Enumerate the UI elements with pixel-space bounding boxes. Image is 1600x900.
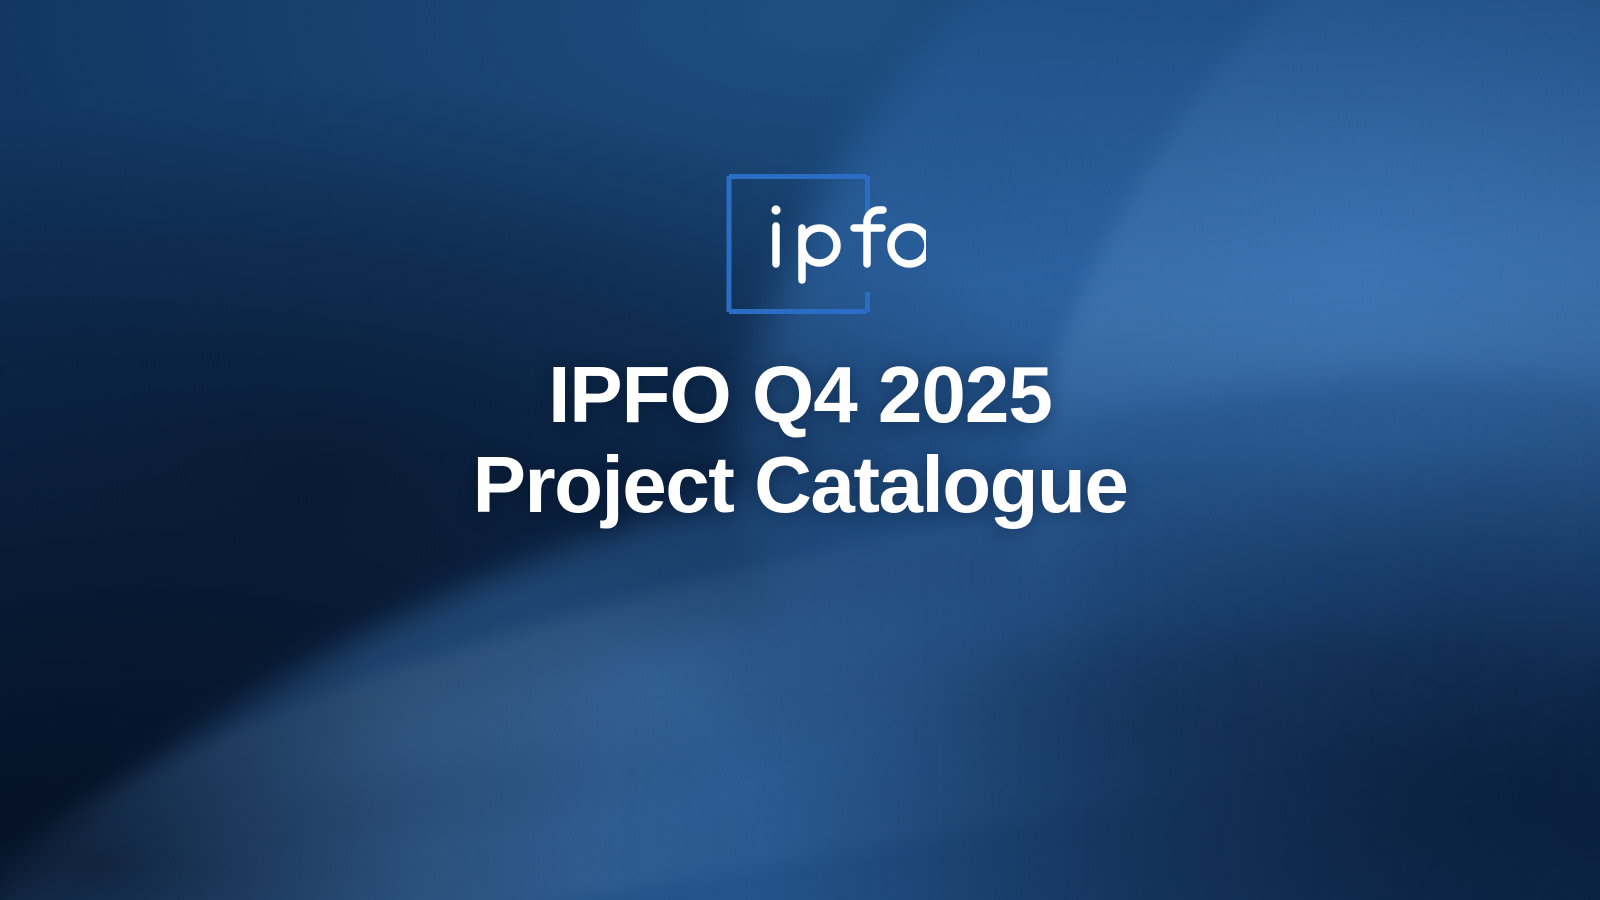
slide-title-line-2: Project Catalogue xyxy=(473,440,1128,530)
ipfo-logo xyxy=(726,170,874,316)
logo-wordmark-ipfo xyxy=(770,198,926,284)
slide-title-line-1: IPFO Q4 2025 xyxy=(473,350,1128,440)
title-slide: IPFO Q4 2025 Project Catalogue xyxy=(0,0,1600,900)
slide-title: IPFO Q4 2025 Project Catalogue xyxy=(473,350,1128,531)
slide-content: IPFO Q4 2025 Project Catalogue xyxy=(0,0,1600,900)
